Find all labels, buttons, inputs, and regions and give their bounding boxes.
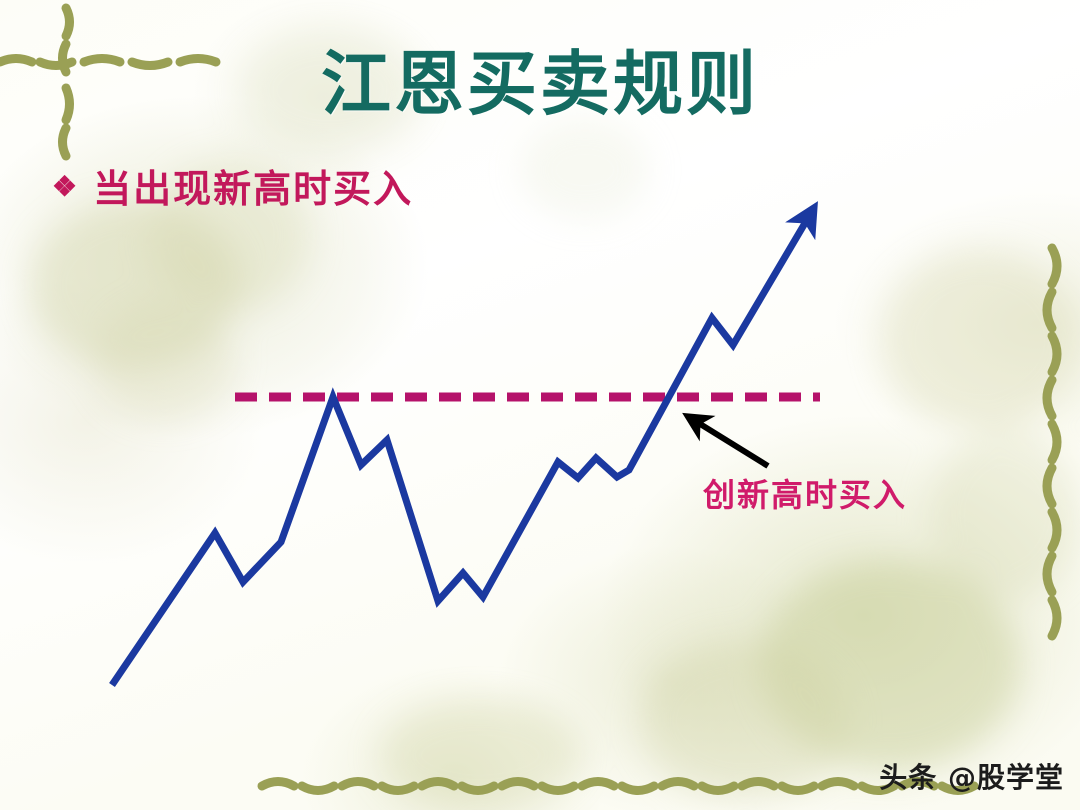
slide-canvas: 江恩买卖规则 ❖ 当出现新高时买入 创新高时买入 头条 @股学堂: [0, 0, 1080, 810]
watermark-label: 头条 @股学堂: [879, 756, 1064, 796]
price-zigzag-line: [112, 218, 808, 685]
breakout-arrow-icon: [696, 421, 768, 466]
price-chart: [0, 0, 1080, 810]
breakout-annotation-label: 创新高时买入: [703, 470, 907, 516]
